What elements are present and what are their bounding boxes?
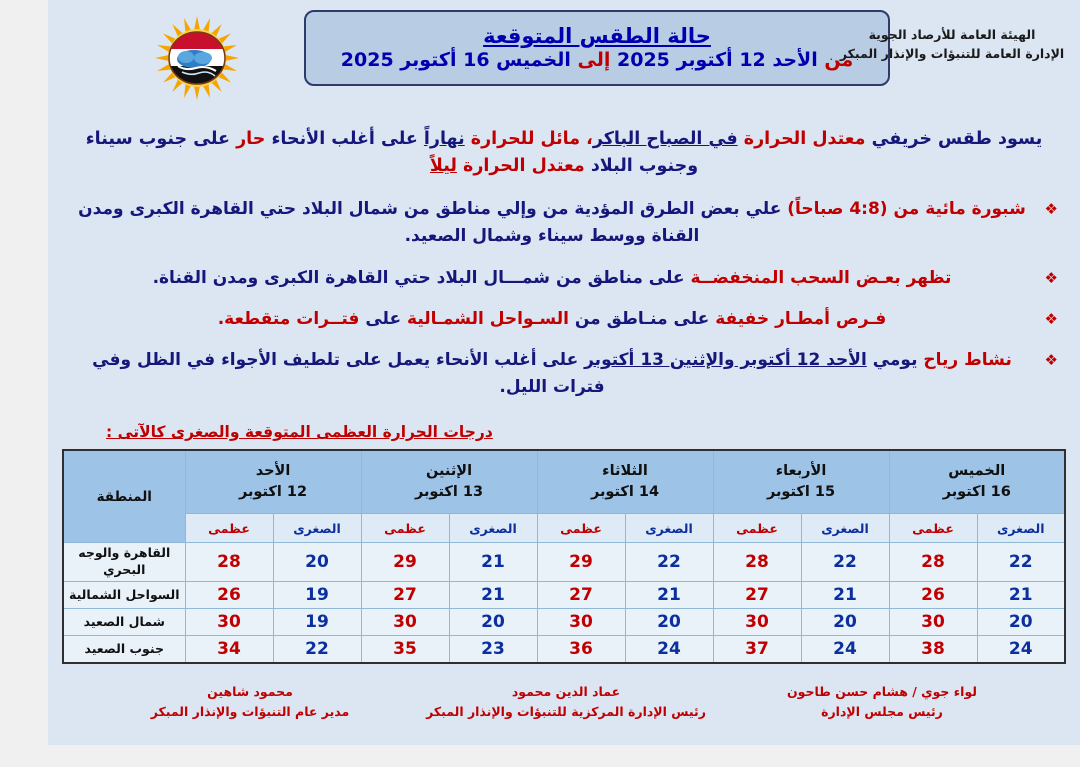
max-header-tuesday: عظمى [537,514,625,543]
forecast-bullet-list: ❖ شبورة مائية من (4:8 صباحاً) علي بعض ال… [64,196,1064,401]
day-header-wednesday: الأربعاء 15 اكتوبر [713,450,889,514]
region-name: السواحل الشمالية [63,582,185,609]
day-name: الإثنين [362,461,537,482]
cell-max: 29 [361,543,449,582]
bullet-3-seg-3: السـواحل الشمـالية [407,309,569,329]
day-date: 12 اكتوبر [186,482,361,503]
organization-name: الهيئة العامة للأرصاد الجوية الإدارة الع… [832,26,1072,64]
day-name: الثلاثاء [538,461,713,482]
cell-max: 28 [185,543,273,582]
cell-max: 37 [713,636,801,664]
min-header-thursday: الصغرى [977,514,1065,543]
list-item: ❖ فـرص أمطـار خفيفة على منـاطق من السـوا… [64,306,1064,333]
summary-part-4: ، مائل للحرارة [471,129,593,149]
cell-min: 24 [625,636,713,664]
ema-logo-icon [142,14,252,102]
cell-min: 19 [273,609,361,636]
bullet-3-seg-4: على [365,309,401,329]
cell-max: 30 [361,609,449,636]
day-date: 16 اكتوبر [890,482,1065,503]
bullet-2-rest: على مناطق من شمـــال البلاد حتي القاهرة … [153,268,685,288]
signature-role: رئيس مجلس الإدارة [724,702,1040,721]
min-header-wednesday: الصغرى [801,514,889,543]
cell-min: 21 [449,543,537,582]
bullet-4-seg-3: الأحد 12 أكتوبر والإثنين 13 أكتوبر [584,350,867,370]
cell-max: 27 [361,582,449,609]
cell-min: 20 [977,609,1065,636]
signature-name: محمود شاهين [92,682,408,701]
day-header-monday: الإثنين 13 اكتوبر [361,450,537,514]
cell-min: 23 [449,636,537,664]
min-header-tuesday: الصغرى [625,514,713,543]
min-header-sunday: الصغرى [273,514,361,543]
cell-min: 21 [449,582,537,609]
summary-part-3: في الصباح الباكر [593,129,738,149]
region-name: شمال الصعيد [63,609,185,636]
bullet-3-seg-1: فـرص أمطـار خفيفة [715,309,886,329]
cell-min: 21 [801,582,889,609]
cell-min: 20 [273,543,361,582]
cell-max: 27 [713,582,801,609]
temperature-table: الخميس 16 اكتوبر الأربعاء 15 اكتوبر الثل… [62,449,1066,664]
cell-min: 24 [801,636,889,664]
bullet-4-seg-4: على أغلب الأنحاء يعمل على تلطيف الأجواء … [92,350,604,397]
day-header-thursday: الخميس 16 اكتوبر [889,450,1065,514]
table-row: 22 28 22 28 22 29 21 29 20 28 القاهرة وا… [63,543,1065,582]
cell-min: 21 [977,582,1065,609]
summary-part-2: معتدل الحرارة [744,129,866,149]
cell-max: 29 [537,543,625,582]
summary-part-6: على أغلب الأنحاء [271,129,417,149]
summary-part-1: يسود طقس خريفي [872,129,1043,149]
cell-min: 24 [977,636,1065,664]
max-header-monday: عظمى [361,514,449,543]
max-header-sunday: عظمى [185,514,273,543]
table-row: 24 38 24 37 24 36 23 35 22 34 جنوب الصعي… [63,636,1065,664]
signature-name: عماد الدين محمود [408,682,724,701]
day-name: الأحد [186,461,361,482]
cell-max: 26 [185,582,273,609]
diamond-bullet-icon: ❖ [1045,197,1058,221]
forecast-period: من الأحد 12 أكتوبر 2025 إلى الخميس 16 أك… [341,50,853,72]
region-name: القاهرة والوجه البحري [63,543,185,582]
cell-max: 30 [185,609,273,636]
forecast-summary: يسود طقس خريفي معتدل الحرارة في الصباح ا… [74,126,1054,180]
cell-max: 27 [537,582,625,609]
cell-min: 19 [273,582,361,609]
list-item: ❖ شبورة مائية من (4:8 صباحاً) علي بعض ال… [64,196,1064,250]
cell-max: 38 [889,636,977,664]
cell-min: 22 [801,543,889,582]
org-line-1: الهيئة العامة للأرصاد الجوية [832,26,1072,45]
cell-min: 22 [625,543,713,582]
summary-part-5: نهاراً [424,129,465,149]
period-to-label: إلى [578,49,611,71]
org-line-2: الإدارة العامة للتنبؤات والإنذار المبكر [832,45,1072,64]
signature-forecast-director: محمود شاهين مدير عام التنبؤات والإنذار ا… [92,682,408,721]
list-item: ❖ تظهر بعـض السحب المنخفضــة على مناطق م… [64,265,1064,292]
region-name: جنوب الصعيد [63,636,185,664]
table-header-minmax: الصغرى عظمى الصغرى عظمى الصغرى عظمى الصغ… [63,514,1065,543]
bullet-2-lead: تظهر بعـض السحب المنخفضــة [690,268,951,288]
cell-max: 35 [361,636,449,664]
region-column-header: المنطقة [63,450,185,543]
max-header-wednesday: عظمى [713,514,801,543]
signature-role: رئيس الإدارة المركزية للتنبؤات والإنذار … [408,702,724,721]
list-item: ❖ نشاط رياح يومي الأحد 12 أكتوبر والإثني… [64,347,1064,401]
day-header-tuesday: الثلاثاء 14 اكتوبر [537,450,713,514]
max-header-thursday: عظمى [889,514,977,543]
cell-min: 20 [801,609,889,636]
day-name: الأربعاء [714,461,889,482]
cell-max: 26 [889,582,977,609]
table-header-days: الخميس 16 اكتوبر الأربعاء 15 اكتوبر الثل… [63,450,1065,514]
cell-min: 21 [625,582,713,609]
summary-part-7: حار [236,129,265,149]
cell-max: 30 [889,609,977,636]
bullet-4-seg-1: نشاط رياح [923,350,1011,370]
bullet-3-seg-5: فتــرات متقطعة. [218,309,360,329]
cell-max: 30 [537,609,625,636]
document-footer: لواء جوي / هشام حسن طاحون رئيس مجلس الإد… [48,682,1080,721]
diamond-bullet-icon: ❖ [1045,348,1058,372]
period-start-date: الأحد 12 أكتوبر 2025 [617,49,818,71]
day-name: الخميس [890,461,1065,482]
cell-min: 20 [625,609,713,636]
title-banner: حالة الطقس المتوقعة من الأحد 12 أكتوبر 2… [304,10,890,86]
diamond-bullet-icon: ❖ [1045,307,1058,331]
summary-part-10: ليلاً [430,156,457,176]
cell-min: 22 [977,543,1065,582]
day-date: 13 اكتوبر [362,482,537,503]
cell-max: 28 [889,543,977,582]
bullet-1-lead: شبورة مائية من (4:8 صباحاً) [787,199,1026,219]
day-date: 14 اكتوبر [538,482,713,503]
min-header-monday: الصغرى [449,514,537,543]
table-row: 20 30 20 30 20 30 20 30 19 30 شمال الصعي… [63,609,1065,636]
period-end-date: الخميس 16 أكتوبر 2025 [341,49,571,71]
diamond-bullet-icon: ❖ [1045,266,1058,290]
signature-name: لواء جوي / هشام حسن طاحون [724,682,1040,701]
document-header: حالة الطقس المتوقعة من الأحد 12 أكتوبر 2… [48,0,1080,112]
bullet-3-seg-2: على منـاطق من [575,309,709,329]
day-header-sunday: الأحد 12 اكتوبر [185,450,361,514]
signature-role: مدير عام التنبؤات والإنذار المبكر [92,702,408,721]
cell-max: 28 [713,543,801,582]
summary-part-9: معتدل الحرارة [463,156,585,176]
cell-max: 30 [713,609,801,636]
day-date: 15 اكتوبر [714,482,889,503]
document-page: حالة الطقس المتوقعة من الأحد 12 أكتوبر 2… [48,0,1080,745]
bullet-1-rest: علي بعض الطرق المؤدية من وإلي مناطق من ش… [78,199,781,246]
cell-max: 34 [185,636,273,664]
cell-max: 36 [537,636,625,664]
signature-chairman: لواء جوي / هشام حسن طاحون رئيس مجلس الإد… [724,682,1040,721]
temperature-table-caption: درجات الحرارة العظمى المتوقعة والصغرى كا… [48,423,1062,441]
cell-min: 20 [449,609,537,636]
bullet-4-seg-2: يومي [873,350,918,370]
page-title: حالة الطقس المتوقعة [483,24,711,48]
cell-min: 22 [273,636,361,664]
table-row: 21 26 21 27 21 27 21 27 19 26 السواحل ال… [63,582,1065,609]
signature-central-head: عماد الدين محمود رئيس الإدارة المركزية ل… [408,682,724,721]
